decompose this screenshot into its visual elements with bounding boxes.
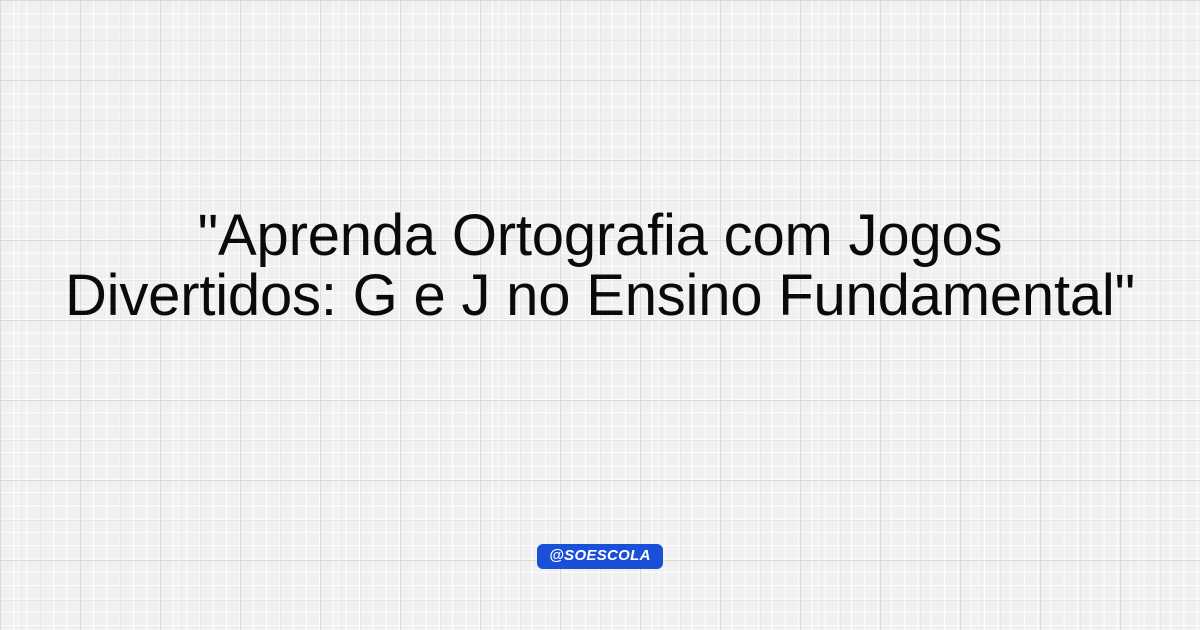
site-handle-badge: @SOESCOLA — [537, 544, 663, 569]
handle-badge-container: @SOESCOLA — [0, 544, 1200, 569]
page-title: "Aprenda Ortografia com Jogos Divertidos… — [60, 206, 1140, 326]
title-container: "Aprenda Ortografia com Jogos Divertidos… — [0, 206, 1200, 326]
social-card-canvas: "Aprenda Ortografia com Jogos Divertidos… — [0, 0, 1200, 630]
